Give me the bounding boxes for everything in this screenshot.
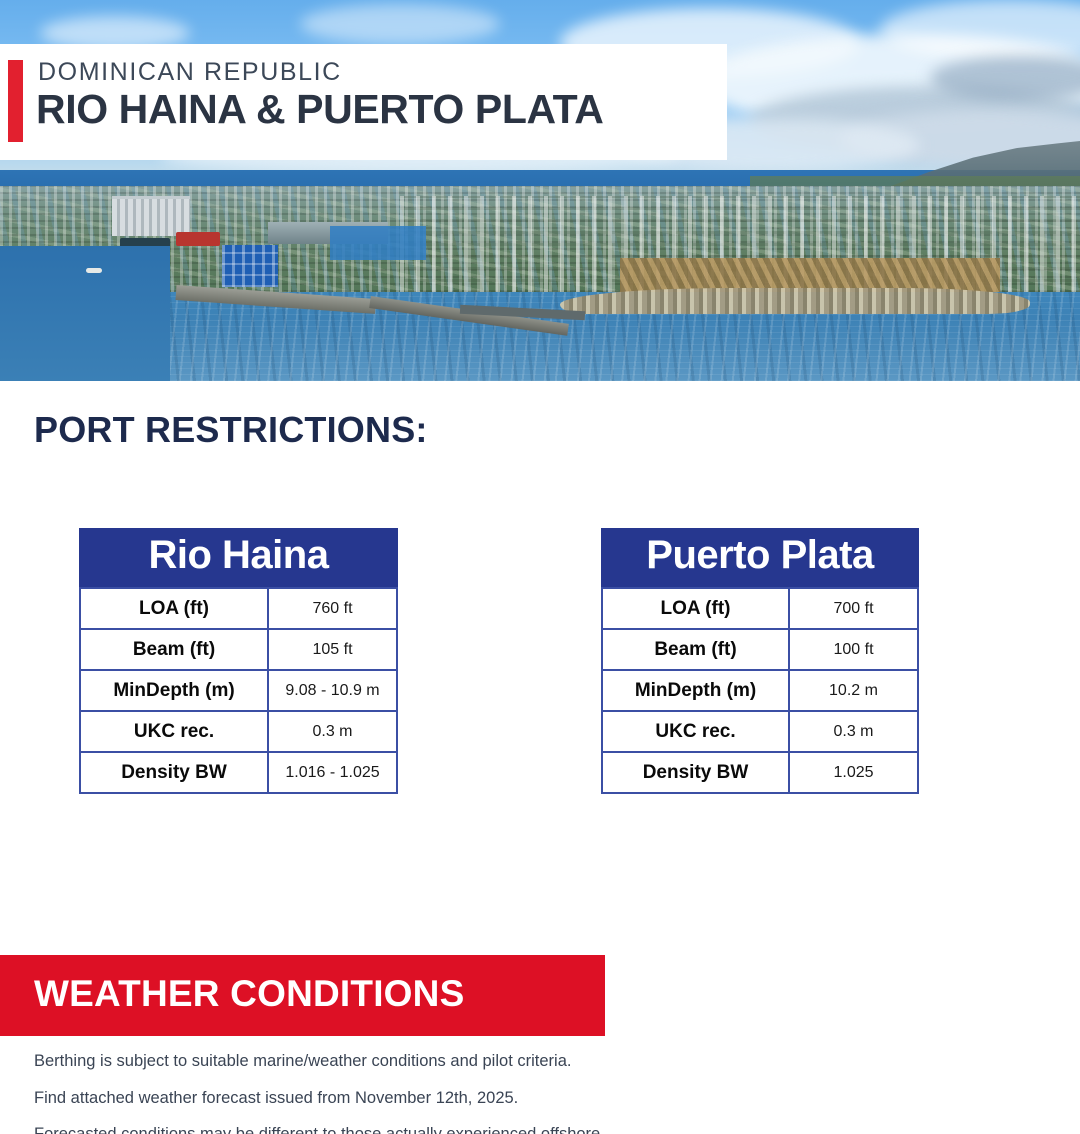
table-row: LOA (ft) 700 ft	[602, 588, 918, 629]
port-info-sheet: DOMINICAN REPUBLIC RIO HAINA & PUERTO PL…	[0, 0, 1080, 1134]
row-key: Density BW	[80, 752, 268, 793]
weather-notes: Berthing is subject to suitable marine/w…	[34, 1053, 1044, 1134]
red-accent-bar	[8, 60, 23, 142]
row-value: 760 ft	[268, 588, 397, 629]
table-row: MinDepth (m) 10.2 m	[602, 670, 918, 711]
table-row: LOA (ft) 760 ft	[80, 588, 397, 629]
restrictions-table: LOA (ft) 700 ft Beam (ft) 100 ft MinDept…	[601, 587, 919, 794]
table-rio-haina: Rio Haina LOA (ft) 760 ft Beam (ft) 105 …	[79, 528, 398, 794]
restrictions-table: LOA (ft) 760 ft Beam (ft) 105 ft MinDept…	[79, 587, 398, 794]
table-title-rio-haina: Rio Haina	[79, 528, 398, 587]
row-value: 700 ft	[789, 588, 918, 629]
row-key: LOA (ft)	[80, 588, 268, 629]
table-row: UKC rec. 0.3 m	[602, 711, 918, 752]
row-key: Beam (ft)	[80, 629, 268, 670]
table-row: Density BW 1.025	[602, 752, 918, 793]
row-key: MinDepth (m)	[602, 670, 789, 711]
row-key: MinDepth (m)	[80, 670, 268, 711]
table-row: Beam (ft) 105 ft	[80, 629, 397, 670]
rock-breakwater	[560, 288, 1030, 314]
row-value: 105 ft	[268, 629, 397, 670]
row-value: 0.3 m	[789, 711, 918, 752]
weather-note-line: Forecasted conditions may be different t…	[34, 1126, 1044, 1134]
weather-note-line: Find attached weather forecast issued fr…	[34, 1090, 1044, 1107]
country-kicker: DOMINICAN REPUBLIC	[38, 58, 342, 87]
weather-note-line: Berthing is subject to suitable marine/w…	[34, 1053, 1044, 1070]
table-puerto-plata: Puerto Plata LOA (ft) 700 ft Beam (ft) 1…	[601, 528, 919, 794]
red-vessel	[176, 232, 220, 246]
blue-warehouse	[330, 226, 426, 260]
row-key: UKC rec.	[80, 711, 268, 752]
hero-banner: DOMINICAN REPUBLIC RIO HAINA & PUERTO PL…	[0, 0, 1080, 381]
blue-building	[222, 245, 278, 287]
row-value: 1.016 - 1.025	[268, 752, 397, 793]
table-row: MinDepth (m) 9.08 - 10.9 m	[80, 670, 397, 711]
page-title: RIO HAINA & PUERTO PLATA	[36, 86, 603, 133]
table-row: Density BW 1.016 - 1.025	[80, 752, 397, 793]
row-key: Beam (ft)	[602, 629, 789, 670]
port-restrictions-heading: PORT RESTRICTIONS:	[34, 409, 428, 451]
row-value: 9.08 - 10.9 m	[268, 670, 397, 711]
row-key: UKC rec.	[602, 711, 789, 752]
title-banner: DOMINICAN REPUBLIC RIO HAINA & PUERTO PL…	[0, 44, 727, 160]
grain-silos	[112, 196, 190, 236]
small-boat	[86, 268, 102, 273]
weather-conditions-banner: WEATHER CONDITIONS	[0, 955, 605, 1036]
table-row: Beam (ft) 100 ft	[602, 629, 918, 670]
row-value: 1.025	[789, 752, 918, 793]
row-value: 100 ft	[789, 629, 918, 670]
row-key: LOA (ft)	[602, 588, 789, 629]
weather-conditions-label: WEATHER CONDITIONS	[34, 973, 464, 1015]
row-value: 10.2 m	[789, 670, 918, 711]
row-value: 0.3 m	[268, 711, 397, 752]
table-title-puerto-plata: Puerto Plata	[601, 528, 919, 587]
water-left	[0, 246, 170, 381]
row-key: Density BW	[602, 752, 789, 793]
table-row: UKC rec. 0.3 m	[80, 711, 397, 752]
cloud-icon	[300, 4, 500, 44]
